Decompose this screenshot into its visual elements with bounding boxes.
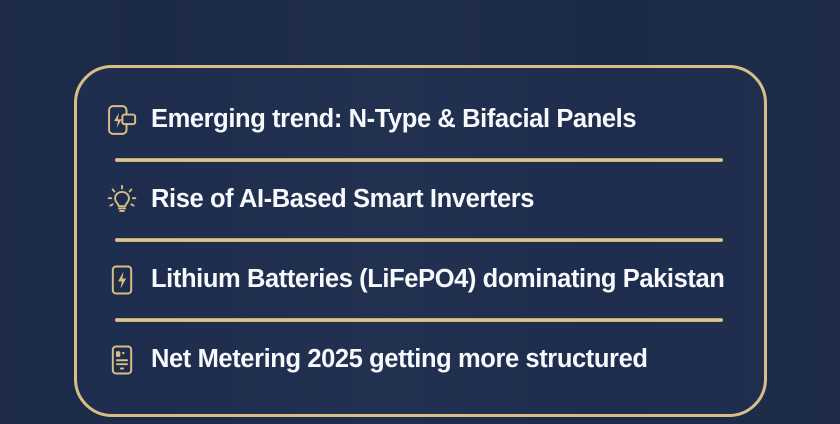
list-item[interactable]: Lithium Batteries (LiFePO4) dominating P…: [77, 249, 764, 311]
list-item-label: Lithium Batteries (LiFePO4) dominating P…: [151, 267, 724, 293]
divider: [115, 158, 723, 162]
smart-solar-panel-icon: [105, 102, 139, 138]
list-item-label: Net Metering 2025 getting more structure…: [151, 347, 648, 373]
divider: [115, 318, 723, 322]
slide-canvas: Emerging trend: N-Type & Bifacial Panels: [0, 0, 840, 424]
list-item[interactable]: Rise of AI-Based Smart Inverters: [77, 169, 764, 231]
trends-list: Emerging trend: N-Type & Bifacial Panels: [77, 68, 764, 414]
lightbulb-idea-icon: [105, 182, 139, 218]
trends-card: Emerging trend: N-Type & Bifacial Panels: [74, 65, 767, 417]
divider: [115, 238, 723, 242]
document-lines-icon: [105, 342, 139, 378]
list-item[interactable]: Emerging trend: N-Type & Bifacial Panels: [77, 89, 764, 151]
list-item[interactable]: Net Metering 2025 getting more structure…: [77, 329, 764, 391]
list-item-label: Rise of AI-Based Smart Inverters: [151, 187, 534, 213]
battery-bolt-icon: [105, 262, 139, 298]
list-item-label: Emerging trend: N-Type & Bifacial Panels: [151, 107, 636, 133]
